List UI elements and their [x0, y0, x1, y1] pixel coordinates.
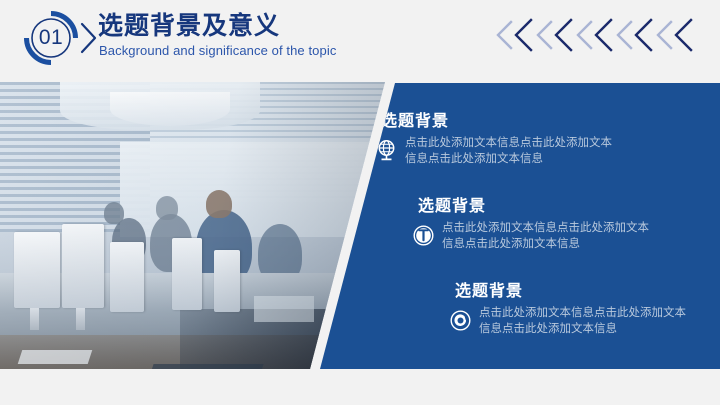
block-heading: 选题背景 — [381, 111, 612, 133]
spiral-ring-icon — [449, 309, 472, 332]
block-body-line: 信息点击此处添加文本信息 — [442, 237, 649, 253]
content-block: 选题背景 点击此处添加文本信息点击此处添加文本 信息点击此处添加文本信息 — [412, 196, 649, 252]
page-subtitle: Background and significance of the topic — [99, 43, 336, 58]
circle-pin-icon — [412, 224, 435, 247]
block-body: 点击此处添加文本信息点击此处添加文本 信息点击此处添加文本信息 — [479, 306, 686, 337]
chevron-left-group-icon — [495, 14, 711, 56]
block-body-line: 信息点击此处添加文本信息 — [405, 152, 612, 168]
content-block: 选题背景 点击此处添加文本信息点击此处添加文本 信息点击此处添加文本信息 — [449, 281, 686, 337]
chevron-right-icon — [78, 20, 100, 56]
block-body-line: 点击此处添加文本信息点击此处添加文本 — [479, 306, 686, 322]
block-body-line: 点击此处添加文本信息点击此处添加文本 — [405, 136, 612, 152]
block-heading: 选题背景 — [418, 196, 649, 218]
section-number-text: 01 — [22, 9, 80, 67]
block-heading: 选题背景 — [455, 281, 686, 303]
photo-image — [0, 82, 385, 369]
slide-header: 01 选题背景及意义 Background and significance o… — [0, 0, 720, 82]
office-workers-photo — [0, 82, 385, 369]
page-title: 选题背景及意义 — [98, 11, 280, 41]
globe-icon — [375, 139, 398, 162]
block-body-line: 信息点击此处添加文本信息 — [479, 322, 686, 338]
block-body: 点击此处添加文本信息点击此处添加文本 信息点击此处添加文本信息 — [405, 136, 612, 167]
section-number-badge: 01 — [22, 9, 80, 67]
content-block: 选题背景 点击此处添加文本信息点击此处添加文本 信息点击此处添加文 — [375, 111, 612, 167]
block-body-line: 点击此处添加文本信息点击此处添加文本 — [442, 221, 649, 237]
slide-canvas: 01 选题背景及意义 Background and significance o… — [0, 0, 720, 405]
block-body: 点击此处添加文本信息点击此处添加文本 信息点击此处添加文本信息 — [442, 221, 649, 252]
